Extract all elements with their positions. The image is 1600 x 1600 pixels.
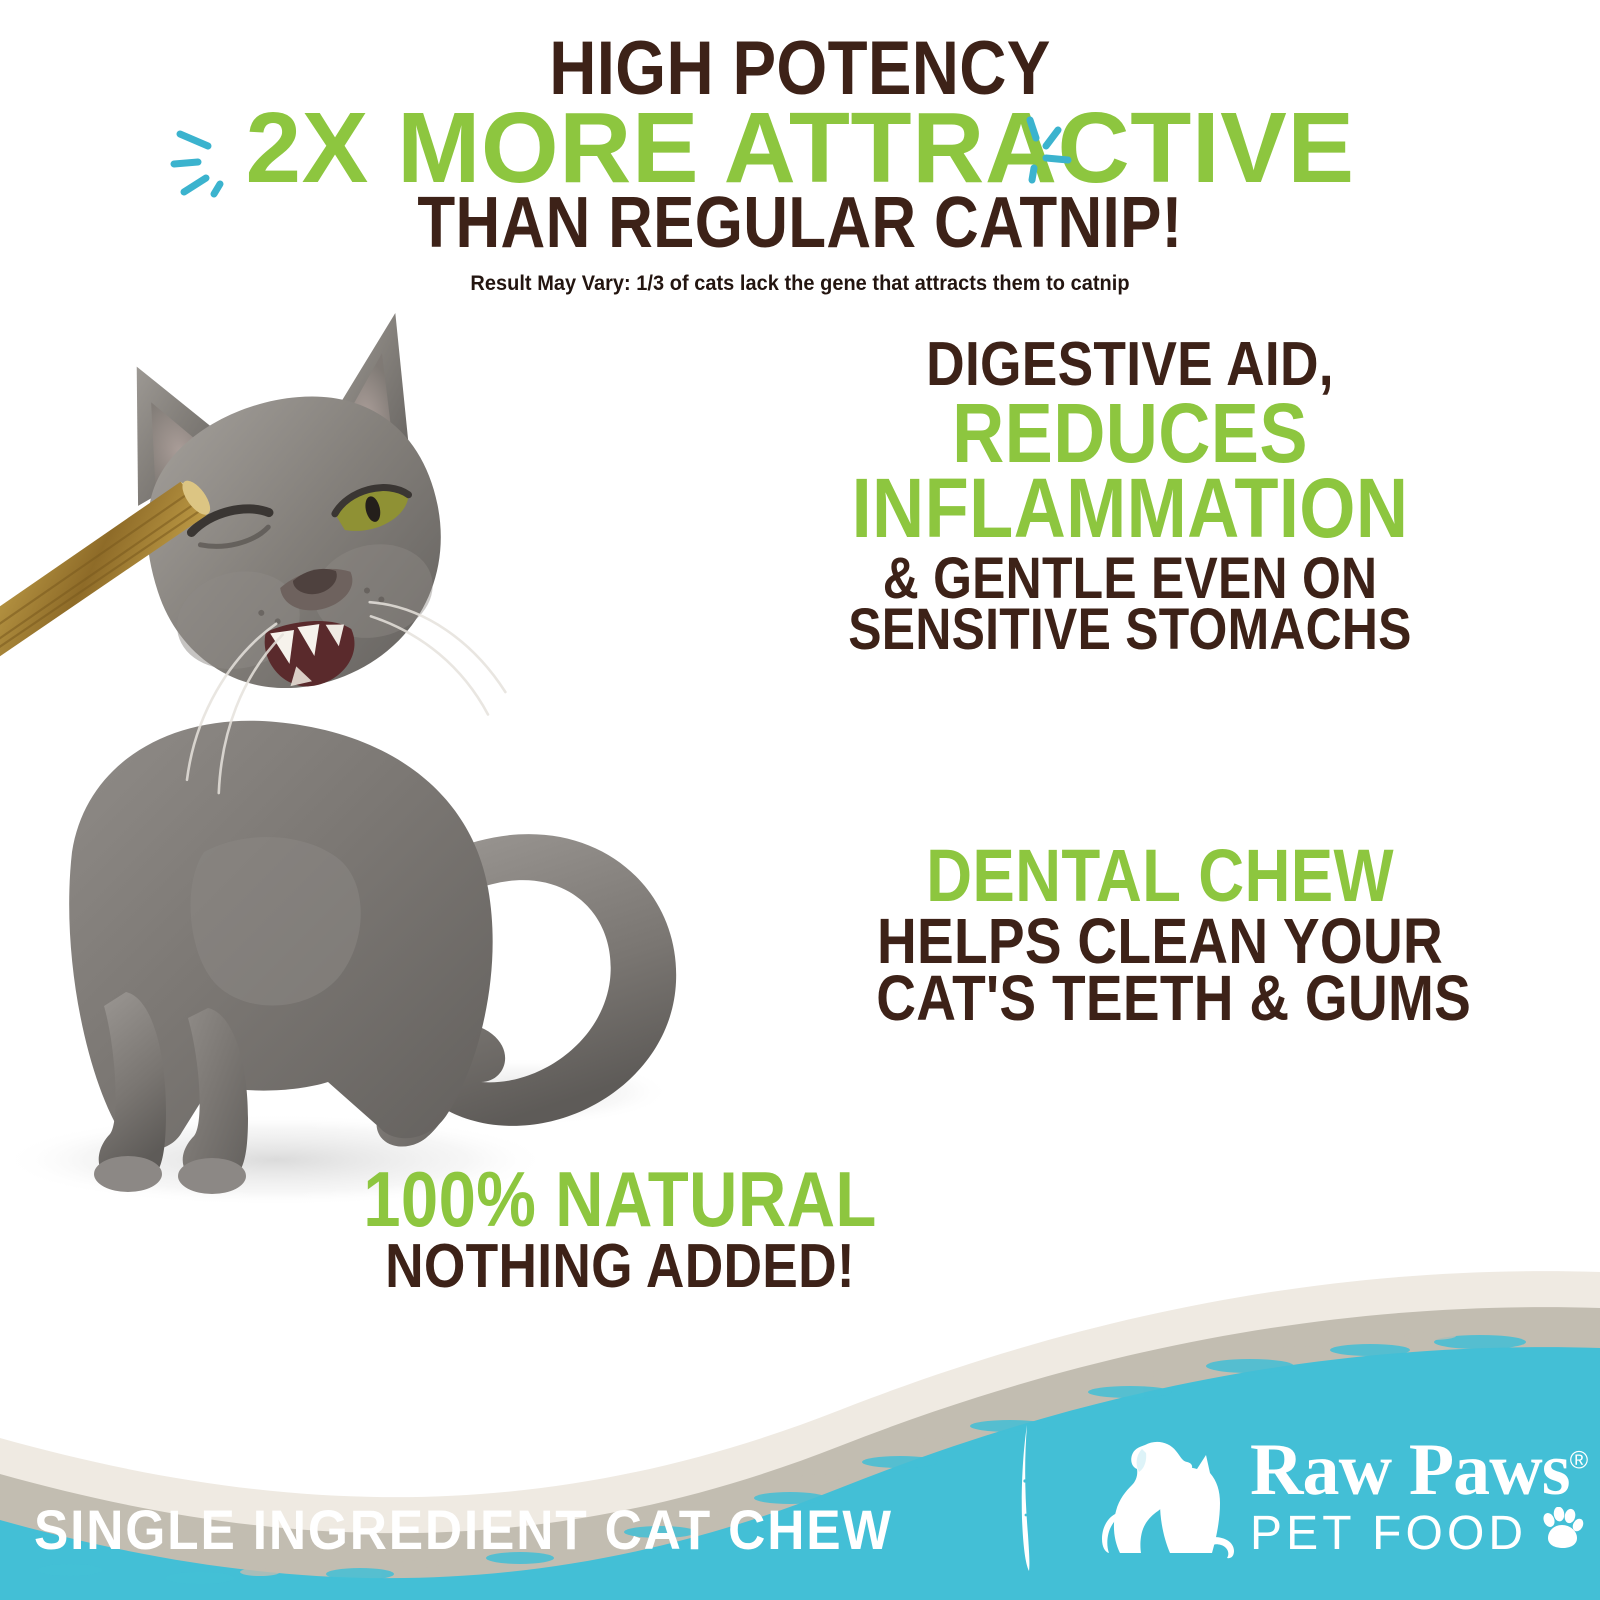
headline-line-2-wrap: 2X MORE ATTRACTIVE <box>0 102 1600 194</box>
headline-line-3: THAN REGULAR CATNIP! <box>112 190 1488 256</box>
brand-wordmark: Raw Paws® PET FOOD <box>1250 1435 1587 1560</box>
benefit-digestive-block: DIGESTIVE AID, REDUCES INFLAMMATION & GE… <box>760 336 1500 656</box>
brand-name-text: Raw Paws <box>1250 1429 1570 1511</box>
digestive-line-5: SENSITIVE STOMACHS <box>812 603 1448 656</box>
dental-line-3: CAT'S TEETH & GUMS <box>876 969 1444 1028</box>
headline-block: HIGH POTENCY 2X MORE ATTRACTIVE <box>0 34 1600 296</box>
dog-cat-silhouette-icon <box>1086 1425 1236 1570</box>
digestive-line-1: DIGESTIVE AID, <box>812 336 1448 393</box>
paw-print-icon <box>1539 1507 1585 1560</box>
registered-trademark-icon: ® <box>1570 1446 1588 1474</box>
brand-subline: PET FOOD <box>1250 1507 1585 1560</box>
infographic-page: HIGH POTENCY 2X MORE ATTRACTIVE <box>0 0 1600 1600</box>
brand-sub-text: PET FOOD <box>1250 1510 1527 1558</box>
brand-logo: Raw Paws® PET FOOD <box>1086 1425 1587 1570</box>
footer-divider <box>1012 1423 1042 1578</box>
disclaimer-text: Result May Vary: 1/3 of cats lack the ge… <box>40 272 1560 296</box>
brand-name: Raw Paws® <box>1250 1435 1587 1506</box>
natural-line-1: 100% NATURAL <box>345 1164 895 1236</box>
cat-photo <box>0 292 716 1222</box>
dental-line-1: DENTAL CHEW <box>876 842 1444 910</box>
digestive-line-3: INFLAMMATION <box>812 470 1448 547</box>
benefit-dental-block: DENTAL CHEW HELPS CLEAN YOUR CAT'S TEETH… <box>830 842 1490 1028</box>
footer-tagline: SINGLE INGREDIENT CAT CHEW <box>34 1502 893 1558</box>
